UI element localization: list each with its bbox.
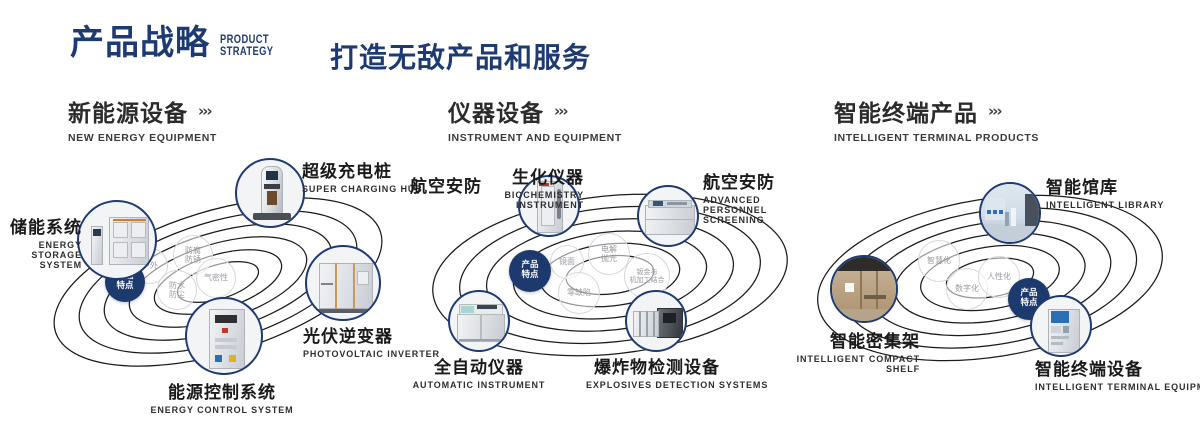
node-automatic-instrument[interactable]: [448, 290, 510, 352]
page-subtitle: 打造无敌产品和服务: [330, 36, 591, 76]
feature-bubble-1-3: 零缺陷: [558, 272, 600, 314]
cluster-intelligent-terminal: 智慧化 数字化 人性化 产品特点 智能馆库 INTELL: [790, 150, 1200, 400]
feature-bubble-0-3: 气密性: [196, 258, 236, 298]
label-intelligent-compact-shelf: 智能密集架 INTELLIGENT COMPACT SHELF: [780, 327, 920, 374]
node-super-charging-hub[interactable]: [235, 158, 305, 228]
section-title-cn-2: 智能终端产品 ›››: [834, 94, 1039, 128]
section-title-cn-0: 新能源设备 ›››: [68, 94, 217, 128]
node-storage-system[interactable]: [77, 200, 157, 280]
section-title-text-1: 仪器设备: [448, 94, 544, 128]
label-storage-system: 储能系统 ENERGY STORAGE SYSTEM: [0, 213, 82, 270]
section-header-new-energy: 新能源设备 ››› NEW ENERGY EQUIPMENT: [68, 94, 217, 144]
section-title-cn-1: 仪器设备 ›››: [448, 94, 622, 128]
chevron-right-icon-0: ›››: [198, 102, 211, 120]
automatic-instrument-photo: [450, 292, 508, 350]
section-title-en-2: INTELLIGENT TERMINAL PRODUCTS: [834, 132, 1039, 144]
section-title-text-0: 新能源设备: [68, 94, 188, 128]
personnel-screening-photo: [639, 187, 697, 245]
node-personnel-screening[interactable]: [637, 185, 699, 247]
explosives-detection-photo: [627, 292, 685, 350]
section-header-intelligent: 智能终端产品 ››› INTELLIGENT TERMINAL PRODUCTS: [834, 94, 1039, 144]
label-energy-control-system: 能源控制系统 ENERGY CONTROL SYSTEM: [122, 378, 322, 415]
node-intelligent-compact-shelf[interactable]: [830, 255, 898, 323]
section-header-instrument: 仪器设备 ››› INSTRUMENT AND EQUIPMENT: [448, 94, 622, 144]
page-title-en: PRODUCT STRATEGY: [220, 33, 273, 58]
node-explosives-detection[interactable]: [625, 290, 687, 352]
chevron-right-icon-1: ›››: [554, 102, 567, 120]
chevron-right-icon-2: ›››: [988, 102, 1001, 120]
page-title-cn: 产品战略: [70, 26, 210, 60]
feature-bubble-1-1: 电解抛光: [588, 233, 630, 275]
node-intelligent-terminal-equipment[interactable]: [1030, 295, 1092, 357]
product-features-badge-1: 产品特点: [509, 250, 551, 292]
section-title-en-0: NEW ENERGY EQUIPMENT: [68, 132, 217, 144]
super-charging-hub-photo: [237, 160, 303, 226]
intelligent-compact-shelf-photo: [832, 257, 896, 321]
poster-canvas: 产品战略 PRODUCT STRATEGY 打造无敌产品和服务 新能源设备 ››…: [0, 0, 1200, 422]
cluster-instrument: 镜面 电解抛光 钣金与机加工结合 零缺陷 产品特点 航空安防 生: [400, 150, 820, 400]
label-biochemistry-instrument: 生化仪器 BIOCHEMISTRY INSTRUMENT: [454, 163, 584, 210]
page-title-en-line2: STRATEGY: [220, 45, 273, 58]
label-intelligent-terminal-equipment: 智能终端设备 INTELLIGENT TERMINAL EQUIPMENT: [1035, 355, 1200, 392]
intelligent-terminal-equipment-photo: [1032, 297, 1090, 355]
photovoltaic-inverter-photo: [307, 247, 379, 319]
label-explosives-detection: 爆炸物检测设备 EXPLOSIVES DETECTION SYSTEMS: [586, 353, 728, 390]
storage-system-photo: [79, 202, 155, 278]
label-intelligent-library: 智能馆库 INTELLIGENT LIBRARY: [1046, 173, 1164, 210]
energy-control-system-photo: [187, 299, 261, 373]
intelligent-library-photo: [981, 184, 1039, 242]
node-photovoltaic-inverter[interactable]: [305, 245, 381, 321]
section-title-en-1: INSTRUMENT AND EQUIPMENT: [448, 132, 622, 144]
cluster-new-energy: 防腐防锈 户外 气密性 防水防尘 产品特点: [0, 150, 420, 400]
page-title: 产品战略 PRODUCT STRATEGY: [70, 26, 288, 60]
page-title-en-line1: PRODUCT: [220, 33, 273, 46]
node-energy-control-system[interactable]: [185, 297, 263, 375]
node-intelligent-library[interactable]: [979, 182, 1041, 244]
section-title-text-2: 智能终端产品: [834, 94, 978, 128]
label-automatic-instrument: 全自动仪器 AUTOMATIC INSTRUMENT: [408, 353, 550, 390]
